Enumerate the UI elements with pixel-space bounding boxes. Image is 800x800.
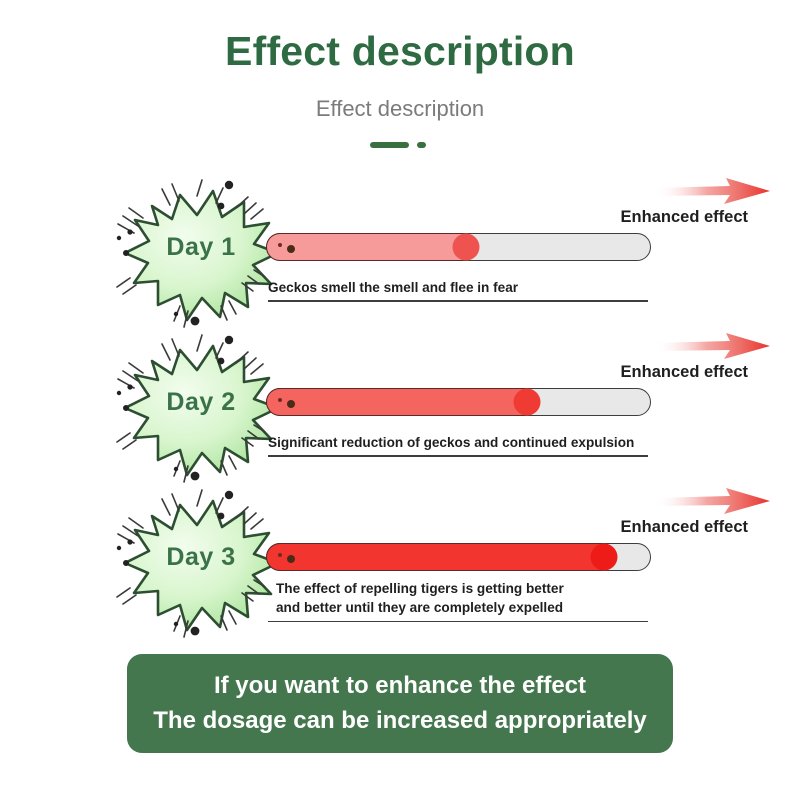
progress-fill [266,233,465,261]
caption-underline [268,300,648,301]
bar-dot-large [287,245,295,253]
bar-dot-large [287,555,295,563]
bar-dot-small [278,398,282,402]
caption-day-3: The effect of repelling tigers is gettin… [268,579,648,622]
bar-dot-small [278,553,282,557]
divider-dash [370,142,409,148]
caption-underline [268,621,648,622]
bar-dot-large [287,400,295,408]
caption-underline [268,455,648,456]
caption-text: Geckos smell the smell and flee in fear [268,278,648,297]
progress-knob[interactable] [514,389,541,416]
progress-bar-day-2[interactable] [266,388,651,416]
caption-text: The effect of repelling tigers is gettin… [268,579,648,618]
divider [370,141,430,149]
caption-day-2: Significant reduction of geckos and cont… [268,433,648,457]
progress-knob[interactable] [453,234,480,261]
enhanced-effect-group-day-2: Enhanced effect [512,332,772,382]
page-subtitle: Effect description [0,75,800,122]
effect-row-day-3: Day 3 Enhanced effect The [0,485,800,645]
arrow-right-icon [652,487,772,517]
enhanced-effect-group-day-3: Enhanced effect [512,487,772,537]
effect-row-day-2: Day 2 Enhanced effect Sig [0,330,800,490]
footer-line-1: If you want to enhance the effect [214,672,586,700]
bar-dot-small [278,243,282,247]
enhanced-effect-label: Enhanced effect [512,363,748,382]
infographic-page: Effect description Effect description [0,0,800,800]
progress-knob[interactable] [591,544,618,571]
progress-fill [266,388,526,416]
progress-bar-day-1[interactable] [266,233,651,261]
effect-row-day-1: Day 1 Enhanced effect Gec [0,175,800,335]
footer-banner: If you want to enhance the effect The do… [127,654,673,753]
enhanced-effect-group-day-1: Enhanced effect [512,177,772,227]
caption-day-1: Geckos smell the smell and flee in fear [268,278,648,302]
progress-bar-day-3[interactable] [266,543,651,571]
footer-line-2: The dosage can be increased appropriatel… [153,707,647,735]
divider-dot [417,142,426,148]
page-title: Effect description [0,0,800,75]
arrow-right-icon [652,332,772,362]
progress-fill [266,543,603,571]
caption-text: Significant reduction of geckos and cont… [268,433,648,452]
header: Effect description Effect description [0,0,800,149]
enhanced-effect-label: Enhanced effect [512,208,748,227]
arrow-right-icon [652,177,772,207]
enhanced-effect-label: Enhanced effect [512,518,748,537]
